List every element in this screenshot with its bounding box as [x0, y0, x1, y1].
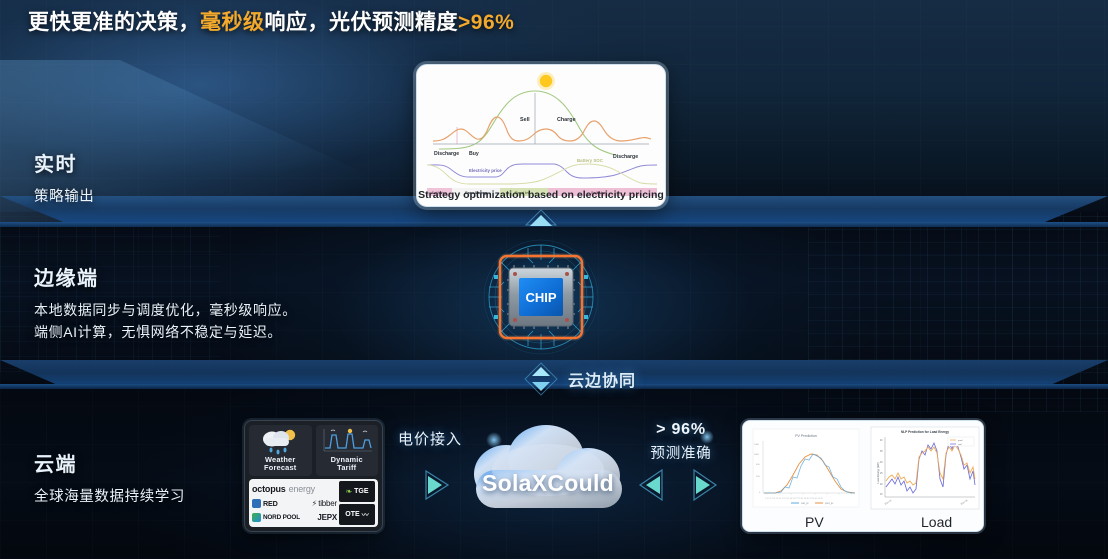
- headline-part1: 更快更准的决策，: [28, 11, 200, 34]
- logo-nordpool: NORD POOL: [263, 514, 300, 521]
- glow-accent-left: [486, 432, 502, 448]
- label-discharge-left: Discharge: [434, 151, 459, 157]
- logo-row-red-tibber: RED ⚡ tibber: [252, 499, 337, 508]
- edge-chip-graphic: CHIP: [466, 232, 616, 362]
- pv-legend-real: real_pv: [801, 502, 809, 505]
- logo-octopus: octopus: [252, 484, 286, 494]
- tier-label-cloud: 云端 全球海量数据持续学习: [34, 448, 185, 508]
- logo-tge-cell: ❧ TGE: [339, 481, 375, 502]
- data-sources-panel[interactable]: WeatherForecast DynamicTariff octopus en: [244, 420, 383, 532]
- tier-edge-line1: 本地数据同步与调度优化，毫秒级响应。: [34, 300, 297, 322]
- cloud-edge-sync-icon: [524, 362, 558, 396]
- nordpool-mark: [252, 513, 261, 522]
- logo-red: RED: [263, 499, 278, 508]
- pv-legend-pred: pred_pv: [825, 502, 834, 505]
- ote-wave-icon: 〰: [362, 510, 369, 520]
- weather-cloud-rain-icon: [259, 426, 301, 456]
- chip-label: CHIP: [525, 290, 556, 305]
- arrow-up-icon: [524, 208, 558, 232]
- dynamic-tariff-label: DynamicTariff: [331, 456, 363, 473]
- headline-part2: 响应，光伏预测精度: [265, 11, 459, 34]
- strategy-chart: Discharge Buy Sell Charge Discharge Elec…: [417, 65, 666, 207]
- tier-edge-title: 边缘端: [34, 262, 297, 291]
- scene: 更快更准的决策，毫秒级响应，光伏预测精度>96% 实时 策略输出 边缘端 本地数…: [0, 0, 1108, 559]
- tariff-curve-icon: [319, 426, 375, 456]
- accuracy-value: > 96%: [632, 421, 730, 439]
- sun-icon: [537, 72, 555, 90]
- price-input-label: 电价接入: [398, 428, 462, 449]
- cloud-edge-sync-label: 云边协同: [568, 367, 636, 391]
- label-electricity-price: Electricity price: [469, 168, 502, 173]
- tier-label-edge: 边缘端 本地数据同步与调度优化，毫秒级响应。 端侧AI计算，无惧网络不稳定与延迟…: [34, 262, 297, 343]
- brand-logos-group: octopus energy RED ⚡ tibber: [249, 479, 378, 527]
- load-legend: pred real: [948, 437, 974, 446]
- svg-text:real: real: [958, 443, 962, 446]
- label-discharge-right: Discharge: [613, 154, 638, 160]
- svg-text:1400: 1400: [754, 444, 760, 446]
- logo-row-octopus: octopus energy: [252, 484, 337, 494]
- tibber-bolt-icon: ⚡: [312, 499, 318, 508]
- load-chart-title: NLP Prediction for Load Energy: [901, 430, 949, 434]
- tge-leaf-icon: ❧: [345, 487, 352, 496]
- arrow-left-icon: [630, 467, 670, 503]
- tier-label-realtime: 实时 策略输出: [34, 148, 94, 208]
- load-prediction-chart: NLP Prediction for Load Energy Load Ener…: [871, 427, 979, 509]
- glow-accent-right: [700, 430, 714, 444]
- red-electrica-mark: [252, 499, 261, 508]
- svg-text:pred: pred: [958, 439, 963, 442]
- logo-jepx: JEPX: [317, 513, 337, 522]
- pv-chart-title: PV Prediction: [795, 434, 817, 438]
- label-buy: Buy: [469, 151, 479, 157]
- strategy-card-caption: Strategy optimization based on electrici…: [417, 189, 665, 201]
- accuracy-arrows: [630, 466, 726, 504]
- pv-prediction-chart: PV Prediction 14001000 6002000 1 3 5 7 9…: [753, 429, 859, 507]
- page-title: 更快更准的决策，毫秒级响应，光伏预测精度>96%: [28, 6, 514, 36]
- weather-forecast-cell[interactable]: WeatherForecast: [249, 425, 312, 476]
- prediction-charts-panel[interactable]: PV Prediction 14001000 6002000 1 3 5 7 9…: [742, 420, 984, 532]
- label-battery-soc: Battery SOC: [577, 158, 604, 163]
- svg-text:1000: 1000: [754, 454, 760, 456]
- logo-tge: TGE: [354, 488, 368, 495]
- tier-cloud-subtitle: 全球海量数据持续学习: [34, 486, 185, 508]
- pv-caption: PV: [805, 514, 824, 530]
- logo-tibber: tibber: [318, 499, 337, 508]
- headline-accent-latency: 毫秒级: [200, 11, 265, 34]
- tier-edge-line2: 端侧AI计算，无惧网络不稳定与延迟。: [34, 322, 297, 344]
- arrow-right-icon-2: [686, 467, 726, 503]
- logo-ote-cell: OTE 〰: [339, 504, 375, 525]
- svg-text:1 3 5 7 9 11 13 15 17 19 21 23: 1 3 5 7 9 11 13 15 17 19 21 23 25 27 29 …: [765, 498, 824, 500]
- tier-realtime-title: 实时: [34, 148, 94, 177]
- logo-octopus-energy: energy: [289, 484, 337, 494]
- logo-row-nordpool-jepx: NORD POOL JEPX: [252, 513, 337, 522]
- load-caption: Load: [921, 514, 952, 530]
- label-charge: Charge: [557, 117, 576, 123]
- dynamic-tariff-cell[interactable]: DynamicTariff: [316, 425, 379, 476]
- arrow-right-icon: [418, 468, 458, 502]
- strategy-optimization-card[interactable]: Discharge Buy Sell Charge Discharge Elec…: [416, 64, 666, 207]
- label-sell: Sell: [520, 117, 530, 123]
- prediction-accuracy-callout: > 96% 预测准确: [632, 421, 730, 463]
- tier-realtime-subtitle: 策略输出: [34, 186, 94, 208]
- logo-ote: OTE: [345, 511, 359, 518]
- weather-forecast-label: WeatherForecast: [264, 456, 296, 473]
- headline-accent-accuracy: >96%: [458, 11, 514, 34]
- tier-cloud-title: 云端: [34, 448, 185, 477]
- accuracy-label: 预测准确: [632, 442, 730, 463]
